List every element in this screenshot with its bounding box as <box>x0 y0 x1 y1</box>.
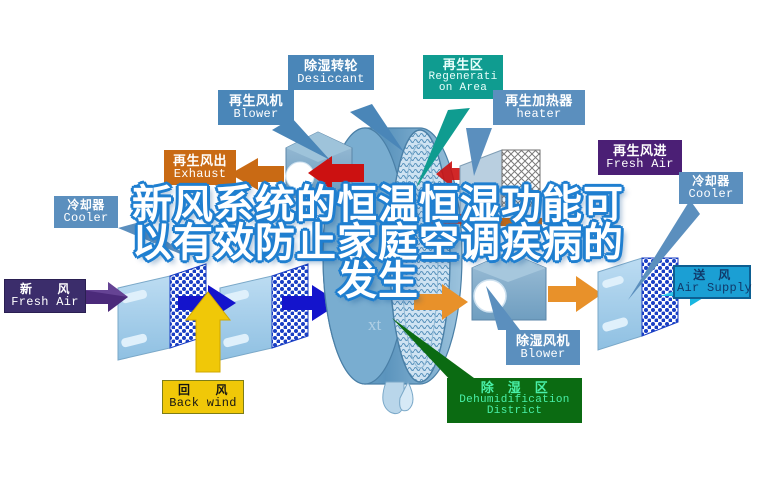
label-dehumidification-blower: 除湿风机 Blower <box>506 330 580 365</box>
headline-line-1: 新风系统的恒温恒湿功能可 <box>88 186 668 224</box>
label-exhaust-cn: 再生风出 <box>167 154 233 168</box>
label-cooler-right-en: Cooler <box>682 188 740 201</box>
label-dehumidification-district-cn: 除 湿 区 <box>450 381 579 395</box>
label-fresh-air-cn: 新 风 <box>9 283 81 296</box>
label-regeneration-blower-cn: 再生风机 <box>222 94 290 108</box>
label-back-wind-en: Back wind <box>167 397 239 410</box>
headline-line-3: 发生 <box>88 262 668 300</box>
label-regeneration-inlet-en: Fresh Air <box>601 158 679 171</box>
label-exhaust-en: Exhaust <box>167 168 233 181</box>
label-dehumidification-blower-cn: 除湿风机 <box>509 334 577 348</box>
label-desiccant-en: Desiccant <box>292 73 370 86</box>
label-regeneration-heater: 再生加热器 heater <box>493 90 585 125</box>
label-regeneration-area-en-2: on Area <box>426 83 500 95</box>
label-fresh-air: 新 风 Fresh Air <box>4 279 86 313</box>
label-desiccant-cn: 除湿转轮 <box>292 59 370 73</box>
label-regeneration-blower: 再生风机 Blower <box>218 90 294 125</box>
label-regeneration-blower-en: Blower <box>222 108 290 121</box>
label-regeneration-area: 再生区 Regenerati on Area <box>423 55 503 99</box>
label-air-supply-cn: 送 风 <box>677 269 747 282</box>
label-regeneration-inlet-cn: 再生风进 <box>601 144 679 158</box>
label-regeneration-heater-cn: 再生加热器 <box>497 94 581 108</box>
label-dehumidification-district-en-2: District <box>450 406 579 418</box>
label-air-supply-en: Air Supply <box>677 282 747 295</box>
diagram-canvas: xt <box>0 0 757 488</box>
label-regeneration-area-cn: 再生区 <box>426 58 500 72</box>
label-cooler-right-cn: 冷却器 <box>682 175 740 188</box>
label-back-wind-cn: 回 风 <box>167 384 239 397</box>
label-fresh-air-en: Fresh Air <box>9 296 81 309</box>
label-regeneration-inlet: 再生风进 Fresh Air <box>598 140 682 175</box>
label-dehumidification-district: 除 湿 区 Dehumidification District <box>447 378 582 423</box>
label-dehumidification-blower-en: Blower <box>509 348 577 361</box>
label-back-wind: 回 风 Back wind <box>162 380 244 414</box>
label-air-supply: 送 风 Air Supply <box>673 265 751 299</box>
label-regeneration-heater-en: heater <box>497 108 581 121</box>
label-desiccant: 除湿转轮 Desiccant <box>288 55 374 90</box>
label-exhaust: 再生风出 Exhaust <box>164 150 236 185</box>
headline-line-2: 以有效防止家庭空调疾病的 <box>88 224 668 262</box>
rotor-watermark: xt <box>368 315 382 334</box>
label-cooler-right: 冷却器 Cooler <box>679 172 743 204</box>
headline-overlay: 新风系统的恒温恒湿功能可 以有效防止家庭空调疾病的 发生 <box>88 186 668 300</box>
